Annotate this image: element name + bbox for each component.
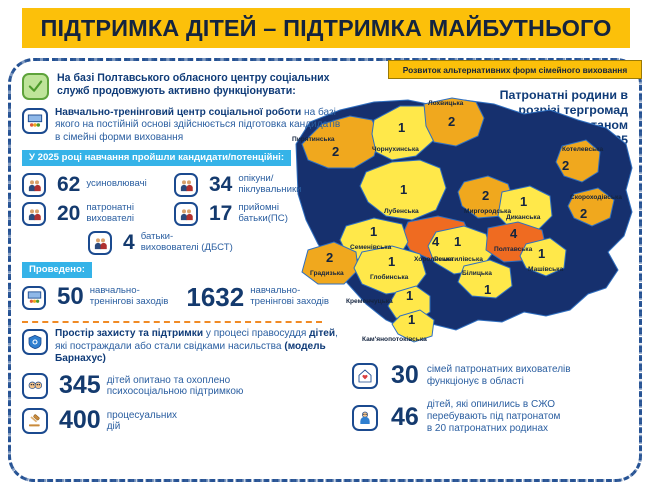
page-title-text: ПІДТРИМКА ДІТЕЙ – ПІДТРИМКА МАЙБУТНЬОГО	[40, 15, 611, 42]
candidate-stats-grid: 62 усиновлювачі 34 опікуни/піклувальники…	[22, 172, 342, 259]
training-center-icon	[22, 108, 48, 134]
map-header-ribbon-text: Розвиток альтернативних форм сімейного в…	[403, 65, 627, 75]
stat-children-in-patronage-label: дітей, які опинились в СЖОперебувають пі…	[427, 399, 561, 435]
map-value-reshetylivska: 1	[454, 234, 461, 249]
ribbon-conducted: Проведено:	[22, 262, 92, 278]
check-icon	[22, 73, 49, 100]
stat-adopters: 62 усиновлювачі	[22, 172, 174, 197]
map-value-mashivska: 1	[538, 246, 545, 261]
stat-children-interviewed-label: дітей опитано та охопленопсихосоціальною…	[107, 375, 244, 397]
stat-patronage-families-value: 30	[391, 363, 419, 388]
map-label-semenivska: Семенівська	[350, 244, 391, 251]
stat-guardians: 34 опікуни/піклувальники	[174, 172, 334, 197]
barnahus-block: Простір захисту та підтримки у процесі п…	[22, 328, 342, 365]
map-label-myrhorodska: Миргородська	[464, 208, 511, 215]
map-value-kremenchutska: 1	[406, 288, 413, 303]
stat-patronage-educators-value: 20	[57, 203, 80, 224]
map-label-bilytska: Білицька	[462, 270, 492, 277]
map-label-mashivska: Машівська	[528, 266, 563, 273]
stat-adopters-label: усиновлювачі	[86, 179, 146, 190]
map-value-lubenska: 1	[400, 182, 407, 197]
stat-dbst-parents-value: 4	[123, 232, 135, 253]
map-label-reshetylivska: Решетилівська	[434, 256, 483, 263]
family-icon	[22, 173, 46, 197]
map-value-skorokhodivska: 2	[580, 206, 587, 221]
training-center-block: Навчально-тренінговий центр соціальної р…	[22, 107, 342, 144]
map-value-khorolska: 4	[432, 234, 439, 249]
family-icon	[22, 202, 46, 226]
stat-patronage-educators-label: патронатнівихователі	[86, 203, 134, 224]
barnahus-text: Простір захисту та підтримки у процесі п…	[55, 328, 342, 365]
shield-icon	[22, 329, 48, 355]
stat-events-1632-value: 1632	[186, 284, 244, 310]
stat-procedural-actions-label: процесуальнихдій	[107, 410, 177, 432]
stat-patronage-families: 30 сімей патронатних вихователівфункціон…	[352, 362, 632, 389]
training-center-bold: Навчально-тренінговий центр соціальної р…	[55, 107, 301, 118]
intro-block: На базі Полтавського обласного центру со…	[22, 72, 342, 100]
children-icon	[22, 373, 48, 399]
stat-children-in-patronage-value: 46	[391, 405, 419, 430]
map-label-kotelevska: Котелевська	[562, 146, 603, 153]
map-value-myrhorodska: 2	[482, 188, 489, 203]
stat-dbst-parents-label: батьки-виховователі (ДБСТ)	[141, 232, 233, 253]
stat-children-interviewed-value: 345	[59, 373, 101, 398]
stat-events-1632: 1632 навчально-тренінгові заходів	[182, 284, 329, 310]
stat-guardians-value: 34	[209, 174, 232, 195]
map-value-hlobynska: 1	[388, 254, 395, 269]
page-title: ПІДТРИМКА ДІТЕЙ – ПІДТРИМКА МАЙБУТНЬОГО	[22, 8, 630, 48]
stat-guardians-label: опікуни/піклувальники	[238, 174, 301, 195]
map-value-poltavska: 4	[510, 226, 517, 241]
stat-dbst-parents: 4 батьки-виховователі (ДБСТ)	[22, 230, 322, 255]
stat-children-interviewed: 345 дітей опитано та охопленопсихосоціал…	[22, 372, 342, 399]
training-center-text: Навчально-тренінговий центр соціальної р…	[55, 107, 341, 144]
barnahus-stats-grid: 345 дітей опитано та охопленопсихосоціал…	[22, 372, 342, 434]
map-label-hlobynska: Глобинська	[370, 274, 408, 281]
stat-events-50-label: навчально-тренінгові заходів	[90, 286, 169, 307]
family-icon	[174, 173, 198, 197]
map-value-kamianopotokivska: 1	[408, 312, 415, 327]
left-content-column: На базі Полтавського обласного центру со…	[22, 72, 342, 438]
barnahus-bold-1: Простір захисту та підтримки	[55, 328, 203, 339]
divider-dashed	[22, 321, 322, 323]
stat-events-50: 50 навчально-тренінгові заходів	[22, 285, 168, 310]
training-center-icon	[22, 286, 46, 310]
map-label-kamianopotokivska: Кам'янопотоківська	[362, 336, 427, 343]
map-value-chornuhynska: 1	[398, 120, 405, 135]
stat-procedural-actions-value: 400	[59, 408, 101, 433]
map-value-lokhvytska: 2	[448, 114, 455, 129]
map-value-dykanska: 1	[520, 194, 527, 209]
barnahus-mid-1: у процесі правосуддя	[203, 328, 309, 339]
bottom-right-stats: 30 сімей патронатних вихователівфункціон…	[352, 362, 632, 445]
stat-children-in-patronage: 46 дітей, які опинились в СЖОперебувають…	[352, 399, 632, 435]
map-label-lubenska: Лубенська	[384, 208, 419, 215]
stat-events-50-value: 50	[57, 285, 84, 309]
conducted-stats-grid: 50 навчально-тренінгові заходів 1632 нав…	[22, 284, 342, 314]
stat-patronage-families-label: сімей патронатних вихователівфункціонує …	[427, 364, 571, 388]
stat-foster-parents: 17 прийомнібатьки(ПС)	[174, 201, 334, 226]
home-heart-icon	[352, 363, 378, 389]
stat-foster-parents-label: прийомнібатьки(ПС)	[238, 203, 288, 224]
child-icon	[352, 405, 378, 431]
map-label-skorokhodivska: Скороходівська	[570, 194, 622, 201]
stat-events-1632-label: навчально-тренінгові заходів	[250, 286, 329, 307]
map-value-semenivska: 1	[370, 224, 377, 239]
intro-text: На базі Полтавського обласного центру со…	[57, 72, 341, 98]
ribbon-candidates: У 2025 році навчання пройшли кандидати/п…	[22, 150, 291, 166]
map-label-lokhvytska: Лохвицька	[428, 100, 463, 107]
stat-patronage-educators: 20 патронатнівихователі	[22, 201, 174, 226]
map-label-chornuhynska: Чорнухинська	[372, 146, 419, 153]
family-icon	[174, 202, 198, 226]
family-icon	[88, 231, 112, 255]
infographic-root: ПІДТРИМКА ДІТЕЙ – ПІДТРИМКА МАЙБУТНЬОГО …	[0, 0, 650, 488]
barnahus-bold-2: дітей	[309, 328, 335, 339]
map-value-kotelevska: 2	[562, 158, 569, 173]
map-label-dykanska: Диканська	[506, 214, 540, 221]
map-label-poltavska: Полтавська	[494, 246, 532, 253]
stat-adopters-value: 62	[57, 174, 80, 195]
map-value-bilytska: 1	[484, 282, 491, 297]
stat-procedural-actions: 400 процесуальнихдій	[22, 407, 342, 434]
map-label-kremenchutska: Кременчуцька	[346, 298, 393, 305]
map-header-ribbon: Розвиток альтернативних форм сімейного в…	[388, 60, 642, 79]
gavel-icon	[22, 408, 48, 434]
stat-foster-parents-value: 17	[209, 203, 232, 224]
